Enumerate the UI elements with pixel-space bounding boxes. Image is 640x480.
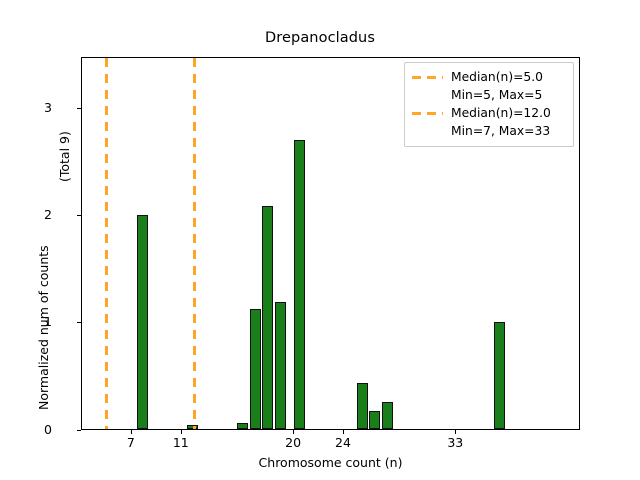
x-axis-label: Chromosome count (n) [81, 455, 580, 470]
x-tick-label-11: 11 [151, 436, 211, 449]
bar-n33 [494, 322, 505, 429]
x-tick-mark-7 [131, 430, 132, 434]
dashed-line-icon [411, 68, 444, 86]
legend-label-1: Median(n)=12.0 [451, 104, 551, 122]
x-tick-label-24: 24 [313, 436, 373, 449]
legend-sublabel-1: Min=7, Max=33 [411, 122, 567, 140]
median-line-5 [105, 58, 108, 429]
x-tick-mark-24 [343, 430, 344, 434]
legend-label-0: Median(n)=5.0 [451, 68, 543, 86]
bar-n24 [382, 402, 393, 429]
legend-entry-0: Median(n)=5.0 [411, 68, 567, 86]
dashed-line-icon [411, 104, 444, 122]
x-tick-mark-11 [181, 430, 182, 434]
y-tick-label-1: 1 [12, 316, 52, 328]
chart-figure: Drepanocladus 0 1 2 3 7 11 20 24 33 Chro… [0, 0, 640, 480]
legend-entry-1: Median(n)=12.0 [411, 104, 567, 122]
y-tick-label-2: 2 [12, 209, 52, 221]
y-tick-label-3: 3 [12, 102, 52, 114]
y-axis-label-total: (Total 9) [57, 131, 72, 182]
bar-n5 [137, 215, 148, 429]
x-tick-mark-20 [293, 430, 294, 434]
bar-n20 [294, 140, 305, 429]
bar-n10 [250, 309, 261, 429]
x-tick-mark-33 [455, 430, 456, 434]
y-tick-mark-0 [77, 430, 81, 431]
bar-n23 [369, 411, 380, 429]
legend-sublabel-0: Min=5, Max=5 [411, 86, 567, 104]
y-tick-label-0: 0 [12, 424, 52, 436]
bar-n11 [262, 206, 273, 429]
chart-title: Drepanocladus [0, 30, 640, 46]
median-line-12 [193, 58, 196, 429]
chart-legend: Median(n)=5.0 Min=5, Max=5 Median(n)=12.… [404, 62, 574, 147]
x-tick-label-33: 33 [425, 436, 485, 449]
bar-n22 [357, 383, 368, 429]
bar-n12 [275, 302, 286, 429]
bar-n9 [237, 423, 248, 429]
